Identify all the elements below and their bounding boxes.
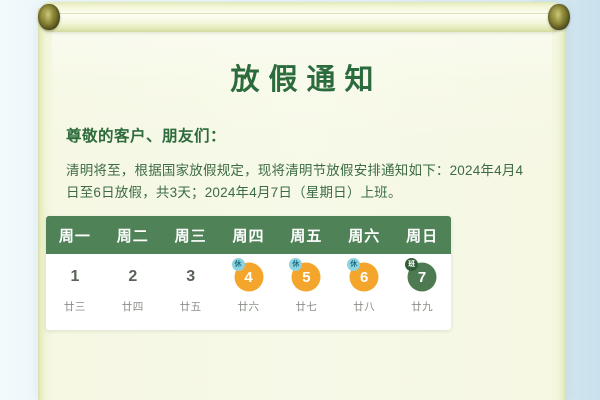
calendar-day-cell[interactable]: 休 5 廿七 xyxy=(277,257,335,330)
calendar-day-cell[interactable]: 休 4 廿六 xyxy=(220,257,278,330)
lunar-date: 廿三 xyxy=(64,299,86,314)
calendar-day-row: 1 廿三 2 廿四 3 廿五 休 4 廿 xyxy=(46,254,451,330)
work-badge-icon: 班 xyxy=(405,258,418,271)
day-marker: 2 xyxy=(118,262,148,292)
day-number: 4 xyxy=(244,269,252,286)
day-number: 1 xyxy=(70,268,79,286)
calendar-day-cell[interactable]: 3 廿五 xyxy=(162,257,220,330)
holiday-calendar: 周一 周二 周三 周四 周五 周六 周日 1 廿三 2 廿四 xyxy=(46,216,451,330)
day-marker-work: 班 7 xyxy=(407,262,437,292)
weekday-header-mon: 周一 xyxy=(46,216,104,254)
scroll-knob-right-icon xyxy=(548,4,570,30)
weekday-header-sun: 周日 xyxy=(393,216,451,254)
day-number: 7 xyxy=(418,269,426,286)
lunar-date: 廿九 xyxy=(411,299,433,314)
day-marker: 3 xyxy=(176,262,206,292)
rest-badge-icon: 休 xyxy=(289,258,302,271)
day-number: 5 xyxy=(302,269,310,286)
calendar-header-row: 周一 周二 周三 周四 周五 周六 周日 xyxy=(46,216,451,254)
lunar-date: 廿七 xyxy=(295,299,317,314)
weekday-header-wed: 周三 xyxy=(162,216,220,254)
calendar-day-cell[interactable]: 班 7 廿九 xyxy=(393,257,451,330)
scroll-roller-bar xyxy=(44,2,558,32)
day-marker-rest: 休 4 xyxy=(234,262,264,292)
lunar-date: 廿六 xyxy=(238,299,260,314)
lunar-date: 廿八 xyxy=(353,299,375,314)
day-number: 6 xyxy=(360,269,368,286)
calendar-day-cell[interactable]: 休 6 廿八 xyxy=(335,257,393,330)
weekday-header-sat: 周六 xyxy=(335,216,393,254)
day-marker: 1 xyxy=(60,262,90,292)
weekday-header-tue: 周二 xyxy=(104,216,162,254)
scroll-knob-left-icon xyxy=(38,4,60,30)
rest-badge-icon: 休 xyxy=(347,258,360,271)
weekday-header-thu: 周四 xyxy=(220,216,278,254)
notice-body-text: 清明将至，根据国家放假规定，现将清明节放假安排通知如下：2024年4月4日至6日… xyxy=(66,160,526,204)
salutation-text: 尊敬的客户、朋友们： xyxy=(66,124,552,146)
page-title: 放假通知 xyxy=(52,56,552,98)
weekday-header-fri: 周五 xyxy=(277,216,335,254)
day-number: 2 xyxy=(128,268,137,286)
day-marker-rest: 休 5 xyxy=(291,262,321,292)
calendar-day-cell[interactable]: 1 廿三 xyxy=(46,257,104,330)
calendar-day-cell[interactable]: 2 廿四 xyxy=(104,257,162,330)
day-marker-rest: 休 6 xyxy=(349,262,379,292)
lunar-date: 廿五 xyxy=(180,299,202,314)
lunar-date: 廿四 xyxy=(122,299,144,314)
day-number: 3 xyxy=(186,268,195,286)
notice-poster: 放假通知 尊敬的客户、朋友们： 清明将至，根据国家放假规定，现将清明节放假安排通… xyxy=(0,0,600,400)
rest-badge-icon: 休 xyxy=(232,258,245,271)
